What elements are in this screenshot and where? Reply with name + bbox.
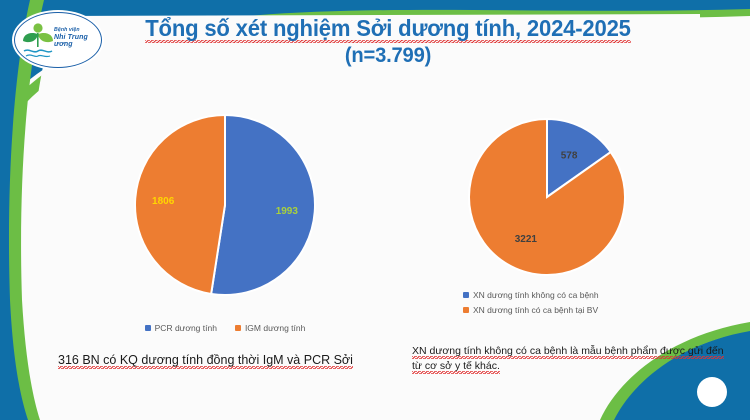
legend-label-case-at-bv: XN dương tính có ca bệnh tại BV [473, 305, 598, 315]
slide-canvas: Bệnh viện Nhi Trung ương Tổng số xét ngh… [0, 0, 750, 420]
legend-label-igm: IGM dương tính [245, 323, 305, 333]
pie-chart-right[interactable]: 578 3221 XN dương tính không có ca bệnh … [425, 105, 675, 320]
legend-item-no-case[interactable]: XN dương tính không có ca bệnh [463, 290, 599, 300]
pie-right-label-orange: 3221 [515, 234, 538, 245]
pie-right-slices [469, 119, 625, 275]
caption-right: XN dương tính không có ca bệnh là mẫu bệ… [412, 344, 732, 374]
legend-swatch-blue [463, 292, 469, 298]
page-title: Tổng số xét nghiệm Sởi dương tính, 2024-… [108, 14, 668, 70]
legend-swatch-blue [145, 325, 151, 331]
legend-label-pcr: PCR dương tính [155, 323, 217, 333]
title-line-2: (n=3.799) [119, 42, 657, 70]
legend-item-igm[interactable]: IGM dương tính [235, 323, 305, 333]
title-line-1: Tổng số xét nghiệm Sởi dương tính, 2024-… [119, 14, 657, 42]
legend-swatch-orange [463, 307, 469, 313]
pie-left-label-orange: 1806 [152, 196, 175, 207]
caption-left: 316 BN có KQ dương tính đồng thời IgM và… [58, 352, 408, 369]
pie-left-label-blue: 1993 [276, 206, 299, 217]
logo-text: Bệnh viện Nhi Trung ương [54, 27, 100, 48]
pie-chart-left-legend: PCR dương tính IGM dương tính [85, 323, 365, 333]
caption-right-text: XN dương tính không có ca bệnh là mẫu bệ… [412, 345, 724, 374]
pie-chart-left[interactable]: 1993 1806 PCR dương tính IGM dương tính [85, 105, 365, 355]
hospital-logo: Bệnh viện Nhi Trung ương [14, 12, 102, 68]
legend-label-no-case: XN dương tính không có ca bệnh [473, 290, 599, 300]
title-line-1-text: Tổng số xét nghiệm Sởi dương tính, 2024-… [145, 15, 631, 43]
pie-left-slice-orange [135, 115, 225, 294]
pie-chart-left-svg: 1993 1806 [85, 105, 365, 305]
bottom-right-dot [697, 377, 727, 407]
legend-item-pcr[interactable]: PCR dương tính [145, 323, 217, 333]
pie-chart-right-legend: XN dương tính không có ca bệnh XN dương … [425, 290, 713, 315]
legend-swatch-orange [235, 325, 241, 331]
pie-chart-right-svg: 578 3221 [425, 105, 675, 285]
caption-left-text: 316 BN có KQ dương tính đồng thời IgM và… [58, 353, 353, 369]
logo-text-line1: Bệnh viện [54, 27, 100, 34]
pie-left-slice-blue [211, 115, 315, 295]
logo-text-line2: Nhi Trung ương [54, 34, 100, 48]
legend-item-case-at-bv[interactable]: XN dương tính có ca bệnh tại BV [463, 305, 598, 315]
pie-right-label-blue: 578 [561, 150, 578, 161]
